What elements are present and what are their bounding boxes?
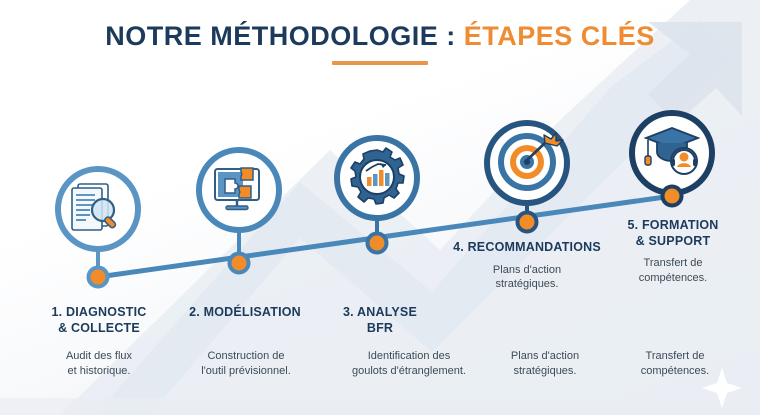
step-label-1[interactable]: 1. DIAGNOSTIC & COLLECTE	[24, 305, 174, 336]
step-title-3: 3. ANALYSE BFR	[310, 305, 450, 336]
bottom-desc-text-5: Transfert de compétences.	[600, 349, 750, 378]
step-title-5: 5. FORMATION & SUPPORT	[598, 218, 748, 249]
infographic-canvas: NOTRE MÉTHODOLOGIE : ÉTAPES CLÉS	[0, 0, 760, 415]
bottom-desc-5: Transfert de compétences.	[600, 349, 750, 378]
step-desc-5: Transfert de compétences.	[598, 256, 748, 285]
step-circle-2	[199, 150, 279, 230]
step-desc-4: Plans d'action stratégiques.	[434, 263, 620, 292]
bottom-desc-text-1: Audit des flux et historique.	[24, 349, 174, 378]
step-title-1: 1. DIAGNOSTIC & COLLECTE	[24, 305, 174, 336]
step-circle-5	[632, 113, 712, 193]
step-circle-1	[58, 169, 138, 249]
bottom-desc-1: Audit des flux et historique.	[24, 349, 174, 378]
step-circle-3	[337, 138, 417, 218]
timeline-node-5	[663, 187, 682, 206]
step-label-3[interactable]: 3. ANALYSE BFR	[310, 305, 450, 336]
step-label-5[interactable]: 5. FORMATION & SUPPORT Transfert de comp…	[598, 218, 748, 286]
timeline-node-2	[230, 254, 249, 273]
timeline-node-4	[518, 213, 537, 232]
bottom-desc-text-2: Construction de l'outil prévisionnel.	[163, 349, 329, 378]
step-label-2[interactable]: 2. MODÉLISATION	[165, 305, 325, 321]
step-title-4: 4. RECOMMANDATIONS	[434, 240, 620, 256]
timeline-node-3	[368, 234, 387, 253]
step-title-2: 2. MODÉLISATION	[165, 305, 325, 321]
bottom-desc-2: Construction de l'outil prévisionnel.	[163, 349, 329, 378]
step-circle-4	[487, 123, 567, 203]
step-label-4[interactable]: 4. RECOMMANDATIONS Plans d'action straté…	[434, 240, 620, 292]
timeline-node-1	[89, 268, 108, 287]
